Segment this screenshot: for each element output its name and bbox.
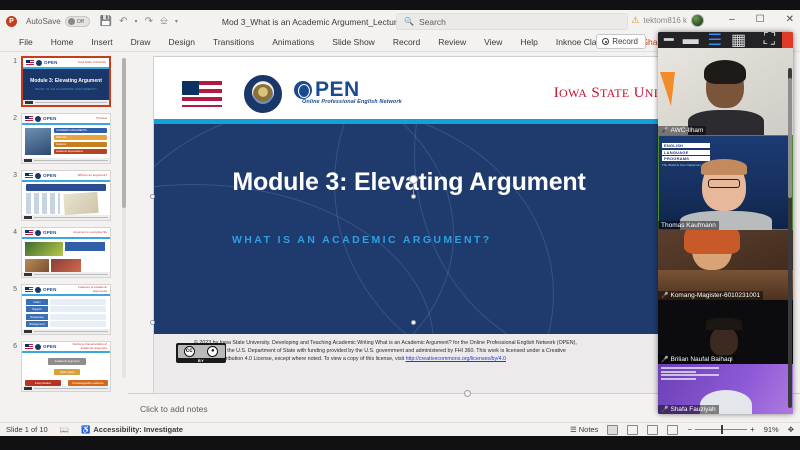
notes-resize-grip[interactable]	[464, 390, 471, 397]
cc-badge-icon	[24, 159, 32, 163]
scrollbar-thumb[interactable]	[788, 78, 792, 198]
microphone-muted-icon: 🎤	[661, 292, 668, 299]
participant-name-bar: 🎤 Komang-Magister-6010231001	[658, 291, 763, 300]
undo-icon[interactable]: ↶	[119, 17, 127, 27]
thumbnail-slide-3[interactable]: OPEN What is an argument?	[21, 170, 111, 221]
us-flag-icon	[25, 230, 33, 235]
slide-sorter-view-button[interactable]	[627, 425, 638, 435]
footer-line	[34, 217, 108, 218]
decorative-banner	[660, 72, 675, 106]
thumb-image	[25, 259, 49, 272]
tab-animations[interactable]: Animations	[263, 37, 323, 47]
toggle-knob	[68, 18, 75, 25]
thumbnail-number: 1	[4, 56, 17, 65]
record-dot-icon	[602, 38, 609, 45]
participant-tile-1[interactable]: 🎤 AWC-Ilham	[658, 48, 793, 135]
thumb-table-row: Claim	[26, 299, 106, 305]
node-label: Knowledgeable audience	[72, 381, 103, 385]
accessibility-status[interactable]: Investigate	[144, 425, 183, 434]
thumbnail-item-4[interactable]: 4 OPEN Argument in everyday life	[0, 227, 128, 278]
tab-slide-show[interactable]: Slide Show	[323, 37, 384, 47]
thumbnail-slide-5[interactable]: OPEN Features of academic arguments Clai…	[21, 284, 111, 335]
microphone-muted-icon: 🎤	[661, 127, 668, 134]
cc-badge-icon	[24, 216, 32, 220]
row-label: Claim	[26, 299, 48, 305]
autosave-toggle[interactable]: Off	[65, 16, 90, 27]
tab-draw[interactable]: Draw	[122, 37, 160, 47]
badge-by-label: BY	[178, 358, 225, 363]
diagram-node: Claim types	[54, 369, 80, 375]
fit-slide-to-window-icon[interactable]: ✥	[788, 425, 794, 434]
thumb-item: Definition	[54, 135, 107, 140]
thumb-header: OPEN Preview	[22, 114, 110, 123]
avatar[interactable]	[691, 14, 704, 27]
maximize-icon[interactable]: ▬	[683, 32, 699, 49]
diagram-node: Knowledgeable audience	[68, 380, 108, 386]
thumb-title: Module 3: Elevating Argument	[23, 78, 109, 84]
open-logo-text: OPEN	[43, 173, 57, 178]
powerpoint-logo-icon	[6, 16, 17, 27]
thumb-item-label: Features	[56, 143, 66, 146]
participant-name-bar: 🎤 AWC-Ilham	[658, 126, 706, 135]
copyright-line-2: sponsored by the U.S. Department of Stat…	[194, 348, 654, 356]
thumb-images	[22, 193, 110, 214]
selection-handle-bottom-left[interactable]	[150, 320, 155, 325]
thumb-header: OPEN Features of academic arguments	[22, 285, 110, 294]
record-button[interactable]: Record	[596, 34, 646, 49]
open-logo-text: OPEN	[44, 60, 58, 65]
chevron-down-icon[interactable]: ▾	[723, 397, 728, 408]
thumb-image-people	[26, 193, 60, 214]
language-book-icon[interactable]: 📖	[60, 425, 69, 434]
row-value	[50, 321, 106, 327]
open-logo-text: OPEN	[43, 230, 57, 235]
state-seal-icon	[35, 116, 41, 122]
undo-dropdown-icon[interactable]: ▾	[135, 19, 138, 25]
state-seal-icon	[35, 173, 41, 179]
slide-thumbnail-pane[interactable]: 1 OPEN Iowa State University Module 3: E…	[0, 52, 128, 417]
tab-file[interactable]: File	[10, 37, 42, 47]
tab-help[interactable]: Help	[511, 37, 546, 47]
slide-line	[661, 374, 719, 376]
slide-line	[661, 378, 696, 380]
thumb-image	[51, 259, 81, 272]
status-right-group: ☰ Notes − + 91% ✥	[570, 425, 794, 435]
us-flag-icon	[25, 116, 33, 121]
zoom-handle[interactable]	[721, 425, 723, 434]
copyright-line-1: © 2023 by Iowa State University. Develop…	[194, 340, 654, 348]
rotate-stem	[413, 184, 414, 194]
thumb-header: OPEN Argument in everyday life	[22, 228, 110, 237]
selection-handle-left[interactable]	[150, 194, 155, 199]
zoom-track[interactable]	[695, 429, 747, 430]
diagram-node: Interpretation	[25, 380, 61, 386]
open-logo-text: OPEN	[43, 344, 57, 349]
thumb-table-row: Background	[26, 321, 106, 327]
status-bar: Slide 1 of 10 📖 ♿ Accessibility: Investi…	[0, 422, 800, 436]
thumbnail-slide-4[interactable]: OPEN Argument in everyday life	[21, 227, 111, 278]
tab-home[interactable]: Home	[42, 37, 83, 47]
participant-name: Komang-Magister-6010231001	[670, 292, 760, 299]
footer-line	[34, 160, 108, 161]
notes-placeholder: Click to add notes	[140, 404, 208, 414]
zoom-slider[interactable]: − +	[687, 425, 754, 434]
slide-header: PEN Online Professional English Network …	[154, 57, 664, 119]
node-label: Academic argument	[55, 359, 80, 363]
open-logo: PEN	[294, 79, 360, 100]
copyright-text: © 2023 by Iowa State University. Develop…	[194, 340, 654, 364]
row-label-text: Support	[32, 307, 42, 311]
rotate-handle-icon[interactable]	[409, 175, 418, 184]
autosave-label: AutoSave	[26, 17, 61, 26]
record-button-label: Record	[612, 37, 638, 46]
badge-inner: cc ●	[178, 345, 225, 358]
node-label: Interpretation	[35, 381, 51, 385]
accessibility-label: Accessibility:	[93, 425, 141, 434]
scrollbar-thumb[interactable]	[122, 58, 126, 208]
participant-name: Shafa Fauziyah	[670, 406, 715, 413]
thumb-table-row: Reasoning	[26, 314, 106, 320]
participant-name: Thomas Kaufmann	[661, 222, 716, 229]
window-controls: – ☐ ✕	[729, 14, 794, 25]
share-screen-icon[interactable]: ⛶	[764, 32, 775, 49]
microphone-muted-icon: 🎤	[661, 356, 668, 363]
zoom-in-button[interactable]: +	[750, 425, 755, 434]
participant-name-bar: 🎤 Brilian Naufal Baihaqi	[658, 355, 736, 364]
thumb-footer	[22, 329, 110, 334]
thumbnail-slide-2[interactable]: OPEN Preview ACADEMIC ARGUMENTS Definiti…	[21, 113, 111, 164]
thumb-header-right: Argument in everyday life	[73, 231, 107, 234]
zoom-toolbar: ━ ▬ ☰ ▦ ⛶	[658, 32, 793, 48]
thumb-banner-label: ACADEMIC ARGUMENTS	[56, 129, 87, 132]
warning-icon: ⚠	[631, 15, 639, 26]
thumbnail-number: 3	[4, 170, 17, 179]
reading-view-button[interactable]	[647, 425, 658, 435]
open-logo-text: OPEN	[43, 287, 57, 292]
logo-line: LANGUAGE	[662, 150, 710, 155]
thumbnail-slide-6[interactable]: OPEN Defining characteristics of academi…	[21, 341, 111, 392]
open-tagline: Online Professional English Network	[302, 99, 402, 105]
notes-button[interactable]: ☰ Notes	[570, 425, 598, 434]
person-hair	[701, 159, 747, 175]
zoom-meeting-panel[interactable]: ━ ▬ ☰ ▦ ⛶ 🎤 AWC-Ilham ENGLISH L	[658, 32, 793, 414]
autosave-state: Off	[77, 19, 84, 25]
notes-button-label: Notes	[579, 425, 599, 434]
selection-handle-top[interactable]	[411, 194, 416, 199]
tab-design[interactable]: Design	[160, 37, 204, 47]
tab-transitions[interactable]: Transitions	[204, 37, 263, 47]
thumb-footer	[22, 272, 110, 277]
state-seal-icon	[36, 60, 42, 66]
thumb-table-row: Support	[26, 306, 106, 312]
slide-footer: cc ● BY © 2023 by Iowa State University.…	[154, 334, 664, 402]
row-label: Support	[26, 306, 48, 312]
logo-line: ENGLISH	[662, 143, 710, 148]
os-taskbar	[0, 436, 800, 450]
participant-name: AWC-Ilham	[670, 127, 703, 134]
thumb-header-right: What is an argument?	[78, 174, 107, 177]
slide-body[interactable]: Module 3: Elevating Argument WHAT IS AN …	[154, 124, 664, 334]
open-logo-text: PEN	[315, 79, 360, 100]
thumbnail-item-3[interactable]: 3 OPEN What is an argument?	[0, 170, 128, 221]
open-globe-icon	[294, 81, 312, 99]
row-label-text: Background	[30, 322, 45, 326]
account-area[interactable]: ⚠ tektom816 k	[631, 14, 704, 27]
thumbnail-item-1[interactable]: 1 OPEN Iowa State University Module 3: E…	[0, 56, 128, 107]
current-slide[interactable]: PEN Online Professional English Network …	[153, 56, 665, 401]
thumb-image	[25, 128, 51, 155]
row-label-text: Claim	[33, 300, 40, 304]
participant-name: Brilian Naufal Baihaqi	[670, 356, 732, 363]
thumb-banner: ACADEMIC ARGUMENTS	[54, 128, 107, 133]
search-input[interactable]: 🔍 Search	[396, 13, 628, 30]
thumb-image-document	[63, 191, 98, 214]
person-head	[710, 326, 738, 356]
selection-handle-bottom[interactable]	[411, 320, 416, 325]
cc-badge-icon	[24, 273, 32, 277]
footer-line	[35, 102, 107, 103]
thumb-header: OPEN Iowa State University	[23, 58, 109, 67]
by-person-icon: ●	[207, 346, 218, 357]
person-hair	[684, 230, 740, 254]
thumb-footer	[23, 100, 109, 105]
thumb-subtitle: WHAT IS AN ACADEMIC ARGUMENT?	[23, 87, 109, 91]
search-placeholder: Search	[419, 17, 446, 27]
thumb-body: Claim Support Reasoning Background	[22, 296, 110, 334]
person-hair	[704, 60, 746, 84]
participant-name-bar: 🎤 Shafa Fauziyah	[658, 405, 719, 414]
thumbnail-item-6[interactable]: 6 OPEN Defining characteristics of acade…	[0, 341, 128, 392]
thumb-item-label: Academic Expectations	[56, 150, 83, 153]
restore-icon[interactable]: ☐	[756, 14, 765, 25]
thumbnail-number: 5	[4, 284, 17, 293]
zoom-out-button[interactable]: −	[687, 425, 692, 434]
open-logo-text: OPEN	[43, 116, 57, 121]
participant-tile-4[interactable]: 🎤 Brilian Naufal Baihaqi	[658, 300, 793, 364]
footer-line	[34, 331, 108, 332]
person-hair	[706, 318, 742, 330]
iowa-state-university-logo: IOWA STATE UNI	[554, 85, 658, 102]
eyeglasses-icon	[708, 179, 740, 188]
close-icon[interactable]: ✕	[786, 14, 794, 25]
slide-line	[661, 371, 696, 373]
account-name: tektom816 k	[643, 16, 687, 25]
node-label: Claim types	[60, 370, 75, 374]
participant-tile-2[interactable]: ENGLISH LANGUAGE PROGRAMS The World Is Y…	[658, 135, 793, 230]
thumb-rule	[22, 180, 110, 182]
thumbnail-number: 2	[4, 113, 17, 122]
participant-tiles: 🎤 AWC-Ilham ENGLISH LANGUAGE PROGRAMS Th…	[658, 48, 793, 414]
participant-tile-3[interactable]: 🎤 Komang-Magister-6010231001	[658, 230, 793, 300]
thumb-body: Academic argument Claim types Interpreta…	[22, 353, 110, 391]
thumb-item-label: Definition	[56, 136, 67, 139]
accessibility-icon: ♿	[81, 425, 90, 434]
thumb-item: Features	[54, 142, 107, 147]
thumb-footer	[22, 386, 110, 391]
slide-show-view-button[interactable]	[667, 425, 678, 435]
search-icon: 🔍	[404, 17, 414, 26]
thumb-body: ACADEMIC ARGUMENTS Definition Features A…	[22, 125, 110, 163]
redo-icon[interactable]: ↷	[145, 17, 153, 27]
thumb-header-right: Features of academic arguments	[69, 286, 107, 293]
slide-subtitle[interactable]: WHAT IS AN ACADEMIC ARGUMENT?	[232, 234, 492, 246]
shared-slide-background	[661, 367, 719, 381]
state-seal-icon	[35, 344, 41, 350]
thumb-footer	[22, 158, 110, 163]
thumbnail-scrollbar[interactable]	[122, 58, 126, 378]
zoom-level[interactable]: 91%	[764, 425, 779, 434]
row-value	[50, 306, 106, 312]
thumb-list: ACADEMIC ARGUMENTS Definition Features A…	[54, 128, 107, 160]
customize-qat-icon[interactable]: ▾	[175, 19, 178, 25]
row-label: Reasoning	[26, 314, 48, 320]
state-seal-icon	[35, 287, 41, 293]
quick-access-toolbar: 💾 ↶ ▾ ↷ ⎒ ▾	[100, 17, 178, 27]
row-value	[50, 314, 106, 320]
microphone-muted-icon: 🎤	[661, 406, 668, 413]
tab-record[interactable]: Record	[384, 37, 429, 47]
us-department-of-state-seal-icon	[244, 75, 282, 113]
thumb-body	[22, 239, 110, 277]
thumb-header-right: Preview	[96, 117, 107, 120]
tab-view[interactable]: View	[475, 37, 511, 47]
thumb-header-right: Defining characteristics of academic arg…	[69, 343, 107, 350]
thumb-header: OPEN Defining characteristics of academi…	[22, 342, 110, 351]
save-icon[interactable]: 💾	[100, 17, 112, 27]
row-label-text: Reasoning	[30, 315, 43, 319]
license-link[interactable]: http://creativecommons.org/licenses/by/4…	[406, 356, 506, 362]
cc-icon: cc	[184, 346, 195, 357]
state-seal-icon	[35, 230, 41, 236]
thumbnail-slide-1[interactable]: OPEN Iowa State University Module 3: Ele…	[21, 56, 111, 107]
row-label: Background	[26, 321, 48, 327]
footer-line	[34, 388, 108, 389]
thumbnail-number: 4	[4, 227, 17, 236]
thumbnail-number: 6	[4, 341, 17, 350]
normal-view-button[interactable]	[607, 425, 618, 435]
participant-name-bar: Thomas Kaufmann	[658, 221, 719, 230]
copyright-line-3: Commons Attribution 4.0 License, except …	[194, 356, 654, 364]
diagram-node: Academic argument	[48, 358, 86, 365]
thumb-callout	[65, 242, 105, 251]
thumb-header: OPEN What is an argument?	[22, 171, 110, 180]
cc-badge-icon	[25, 101, 33, 105]
zoom-panel-scrollbar[interactable]	[788, 68, 792, 408]
cc-badge-icon	[24, 330, 32, 334]
cc-badge-icon	[24, 387, 32, 391]
us-flag-icon	[25, 173, 33, 178]
thumb-banner	[26, 184, 106, 191]
os-top-strip	[0, 0, 800, 10]
tab-review[interactable]: Review	[429, 37, 475, 47]
thumb-header-right: Iowa State University	[78, 61, 106, 64]
minimize-icon[interactable]: –	[729, 14, 735, 25]
title-bar: AutoSave Off 💾 ↶ ▾ ↷ ⎒ ▾ Mod 3_What is a…	[0, 10, 800, 33]
us-flag-icon	[26, 60, 34, 65]
thumb-item: Academic Expectations	[54, 149, 107, 154]
thumb-image	[25, 242, 63, 256]
slide-title[interactable]: Module 3: Elevating Argument	[154, 168, 664, 197]
us-flag-icon	[25, 287, 33, 292]
slide-line	[661, 367, 719, 369]
thumbnail-item-2[interactable]: 2 OPEN Preview ACADEMIC ARGUMENTS	[0, 113, 128, 164]
footer-line	[34, 274, 108, 275]
us-flag-icon	[25, 344, 33, 349]
slide-counter[interactable]: Slide 1 of 10	[6, 425, 48, 434]
thumbnail-item-5[interactable]: 5 OPEN Features of academic arguments Cl…	[0, 284, 128, 335]
row-value	[50, 299, 106, 305]
present-icon[interactable]: ⎒	[160, 17, 168, 27]
logo-line: PROGRAMS	[662, 156, 710, 161]
thumb-footer	[22, 215, 110, 220]
screen: AutoSave Off 💾 ↶ ▾ ↷ ⎒ ▾ Mod 3_What is a…	[0, 0, 800, 450]
us-flag-icon	[182, 81, 222, 107]
creative-commons-badge-icon: cc ● BY	[176, 343, 226, 363]
tab-insert[interactable]: Insert	[82, 37, 121, 47]
close-icon[interactable]	[782, 32, 793, 48]
